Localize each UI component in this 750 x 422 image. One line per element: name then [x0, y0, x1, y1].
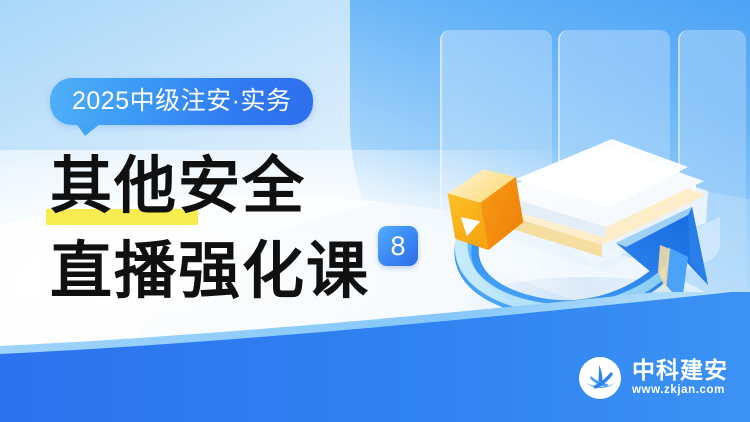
brand-logo: 中科建安 www.zkjan.com	[578, 356, 728, 400]
headline-line-2-row: 直播强化课8	[50, 226, 470, 296]
episode-number-badge: 8	[378, 226, 418, 266]
headline-line-1: 其他安全	[50, 152, 306, 222]
zkjan-logo-icon	[578, 356, 622, 400]
episode-number-label: 8	[378, 226, 418, 266]
brand-name: 中科建安	[632, 358, 728, 383]
headline-line-1-row: 其他安全	[50, 152, 470, 224]
headline-line-2: 直播强化课	[50, 237, 370, 307]
brand-url: www.zkjan.com	[632, 383, 728, 398]
course-subject-badge: 2025中级注安·实务	[50, 78, 313, 125]
badge-tail	[76, 123, 101, 136]
badge-label: 2025中级注安·实务	[72, 86, 291, 116]
headline-block: 其他安全 直播强化课8	[50, 152, 470, 296]
brand-text: 中科建安 www.zkjan.com	[632, 358, 728, 398]
badge-pill: 2025中级注安·实务	[50, 78, 313, 125]
course-banner: 2025中级注安·实务 其他安全 直播强化课8 中科建安 www.zkjan.c…	[0, 0, 750, 422]
